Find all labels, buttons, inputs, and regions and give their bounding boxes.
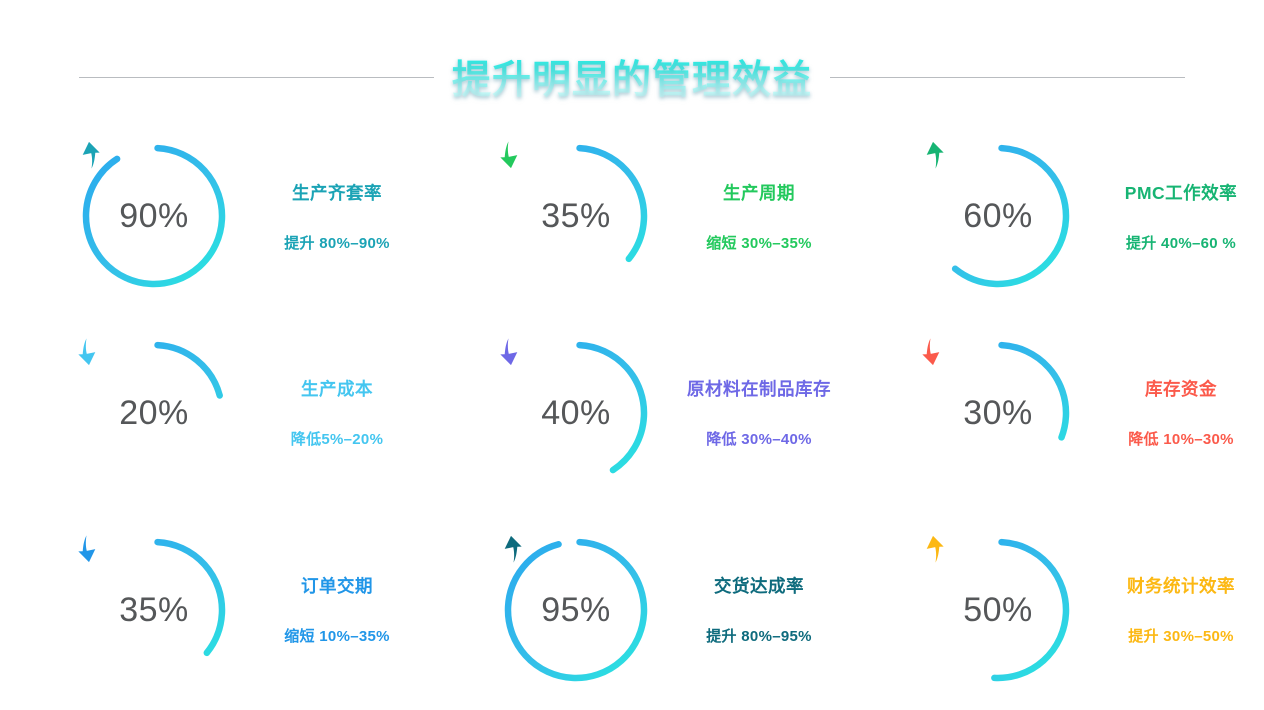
progress-ring: 30%	[918, 333, 1078, 493]
metric-card[interactable]: 35%生产周期缩短 30%–35%	[422, 118, 844, 315]
progress-ring-value: 95%	[541, 593, 611, 627]
metric-title: 生产成本	[301, 376, 373, 401]
progress-ring-value: 60%	[963, 199, 1033, 233]
metric-info: 订单交期缩短 10%–35%	[252, 573, 422, 646]
metric-subtitle: 提升 30%–50%	[1128, 625, 1234, 646]
metric-card[interactable]: 90%生产齐套率提升 80%–90%	[0, 118, 422, 315]
progress-ring-center: 40%	[496, 333, 656, 493]
progress-ring: 60%	[918, 136, 1078, 296]
progress-ring-center: 90%	[74, 136, 234, 296]
progress-ring-value: 50%	[963, 593, 1033, 627]
arrow-down-icon	[496, 337, 526, 367]
arrow-up-icon	[918, 534, 948, 564]
progress-ring: 35%	[74, 530, 234, 690]
arrow-up-icon	[74, 140, 104, 170]
progress-ring-center: 60%	[918, 136, 1078, 296]
metric-title: 生产齐套率	[292, 180, 382, 205]
progress-ring-value: 35%	[119, 593, 189, 627]
header-rule-right	[830, 77, 1185, 78]
metric-info: 库存资金降低 10%–30%	[1096, 376, 1264, 449]
progress-ring-value: 35%	[541, 199, 611, 233]
arrow-down-icon	[918, 337, 948, 367]
metrics-grid: 90%生产齐套率提升 80%–90%35%生产周期缩短 30%–35%60%PM…	[0, 118, 1264, 708]
metric-subtitle: 降低5%–20%	[291, 428, 383, 449]
progress-ring-value: 20%	[119, 396, 189, 430]
metric-title: 交货达成率	[714, 573, 804, 598]
page-title: 提升明显的管理效益	[452, 49, 812, 105]
metric-info: PMC工作效率提升 40%–60 %	[1096, 180, 1264, 253]
metric-card[interactable]: 30%库存资金降低 10%–30%	[844, 315, 1264, 512]
metric-subtitle: 提升 80%–95%	[706, 625, 812, 646]
progress-ring-value: 40%	[541, 396, 611, 430]
progress-ring-value: 90%	[119, 199, 189, 233]
progress-ring: 35%	[496, 136, 656, 296]
metric-title: 财务统计效率	[1127, 573, 1235, 598]
progress-ring: 50%	[918, 530, 1078, 690]
arrow-up-icon	[918, 140, 948, 170]
arrow-down-icon	[74, 337, 104, 367]
metric-info: 生产成本降低5%–20%	[252, 376, 422, 449]
progress-ring-center: 95%	[496, 530, 656, 690]
header-rule-left	[79, 77, 434, 78]
metric-subtitle: 缩短 10%–35%	[284, 625, 390, 646]
metric-title: PMC工作效率	[1125, 180, 1237, 205]
arrow-up-icon	[496, 534, 526, 564]
progress-ring-center: 35%	[74, 530, 234, 690]
metric-card[interactable]: 50%财务统计效率提升 30%–50%	[844, 511, 1264, 708]
progress-ring-center: 30%	[918, 333, 1078, 493]
page-header: 提升明显的管理效益	[0, 46, 1264, 108]
metric-card[interactable]: 40%原材料在制品库存降低 30%–40%	[422, 315, 844, 512]
metric-title: 原材料在制品库存	[687, 376, 831, 401]
metric-card[interactable]: 95%交货达成率提升 80%–95%	[422, 511, 844, 708]
metric-subtitle: 缩短 30%–35%	[706, 232, 812, 253]
metric-subtitle: 降低 10%–30%	[1128, 428, 1234, 449]
progress-ring-value: 30%	[963, 396, 1033, 430]
progress-ring: 40%	[496, 333, 656, 493]
metric-info: 交货达成率提升 80%–95%	[674, 573, 844, 646]
progress-ring: 20%	[74, 333, 234, 493]
arrow-down-icon	[74, 534, 104, 564]
progress-ring: 95%	[496, 530, 656, 690]
metric-subtitle: 提升 80%–90%	[284, 232, 390, 253]
metric-title: 生产周期	[723, 180, 795, 205]
metric-subtitle: 降低 30%–40%	[706, 428, 812, 449]
metric-info: 原材料在制品库存降低 30%–40%	[674, 376, 844, 449]
progress-ring-center: 35%	[496, 136, 656, 296]
metric-info: 财务统计效率提升 30%–50%	[1096, 573, 1264, 646]
metric-card[interactable]: 20%生产成本降低5%–20%	[0, 315, 422, 512]
metric-info: 生产齐套率提升 80%–90%	[252, 180, 422, 253]
metric-info: 生产周期缩短 30%–35%	[674, 180, 844, 253]
metric-title: 库存资金	[1145, 376, 1217, 401]
arrow-down-icon	[496, 140, 526, 170]
progress-ring-center: 50%	[918, 530, 1078, 690]
metric-subtitle: 提升 40%–60 %	[1126, 232, 1236, 253]
metric-title: 订单交期	[301, 573, 373, 598]
metric-card[interactable]: 35%订单交期缩短 10%–35%	[0, 511, 422, 708]
progress-ring: 90%	[74, 136, 234, 296]
metric-card[interactable]: 60%PMC工作效率提升 40%–60 %	[844, 118, 1264, 315]
progress-ring-center: 20%	[74, 333, 234, 493]
